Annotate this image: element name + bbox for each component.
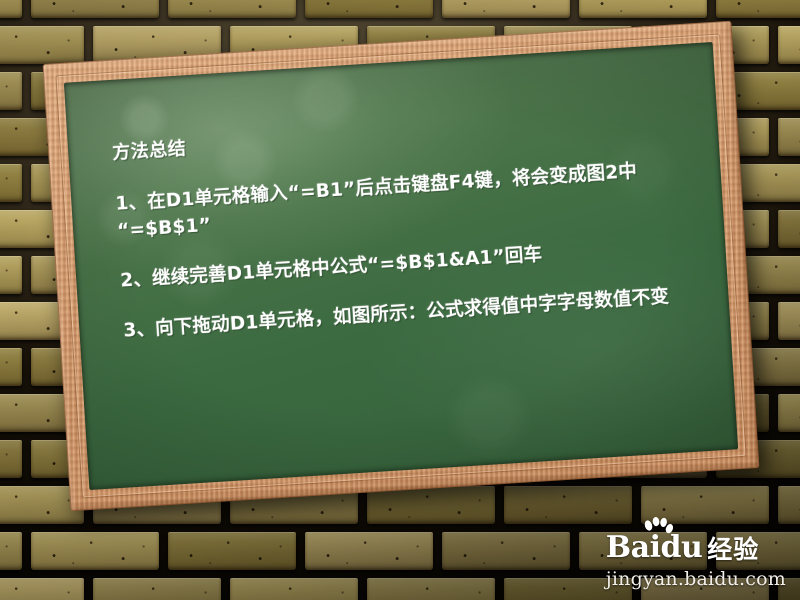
paw-print-icon [643,517,673,543]
brick [0,578,84,600]
brick [0,72,22,110]
brick [305,0,433,18]
brick [367,486,495,524]
instruction-step-2: 2、继续完善D1单元格中公式“=$B$1&A1”回车 [120,232,701,295]
wooden-frame: 方法总结 1、在D1单元格输入“=B1”后点击键盘F4键，将会变成图2中“=$B… [43,21,760,511]
brick [168,532,296,570]
brick [778,118,800,156]
brick [778,26,800,64]
baidu-jingyan-watermark: Baidu 经验 jingyan.baidu.com [606,529,786,590]
brick [778,210,800,248]
jingyan-wordmark: 经验 [707,537,759,563]
brick [0,348,22,386]
brick [93,578,221,600]
instruction-step-3: 3、向下拖动D1单元格，如图所示：公式求得值中字字母数值不变 [123,282,704,345]
watermark-url: jingyan.baidu.com [606,568,786,590]
brick [0,532,22,570]
brick [778,302,800,340]
watermark-logo-row: Baidu 经验 [606,529,786,563]
brick [778,486,800,524]
chalkboard-content: 方法总结 1、在D1单元格输入“=B1”后点击键盘F4键，将会变成图2中“=$B… [64,42,729,348]
chalkboard: 方法总结 1、在D1单元格输入“=B1”后点击键盘F4键，将会变成图2中“=$B… [43,21,760,511]
brick [442,532,570,570]
brick [0,256,22,294]
brick [716,0,800,18]
brick [0,440,22,478]
brick [579,0,707,18]
brick [504,486,632,524]
brick [168,0,296,18]
page-title: 方法总结 [112,106,692,167]
brick [442,0,570,18]
brick [31,532,159,570]
brick [31,0,159,18]
brick [367,578,495,600]
screenshot-stage: 方法总结 1、在D1单元格输入“=B1”后点击键盘F4键，将会变成图2中“=$B… [0,0,800,600]
brick [0,26,84,64]
instruction-step-1: 1、在D1单元格输入“=B1”后点击键盘F4键，将会变成图2中“=$B$1” [115,156,697,245]
chalkboard-surface: 方法总结 1、在D1单元格输入“=B1”后点击键盘F4键，将会变成图2中“=$B… [64,42,738,490]
brick [230,578,358,600]
brick-row [0,0,774,26]
brick [0,0,22,18]
brick [778,394,800,432]
brick [305,532,433,570]
baidu-wordmark: Baidu [606,533,703,563]
brick [0,164,22,202]
